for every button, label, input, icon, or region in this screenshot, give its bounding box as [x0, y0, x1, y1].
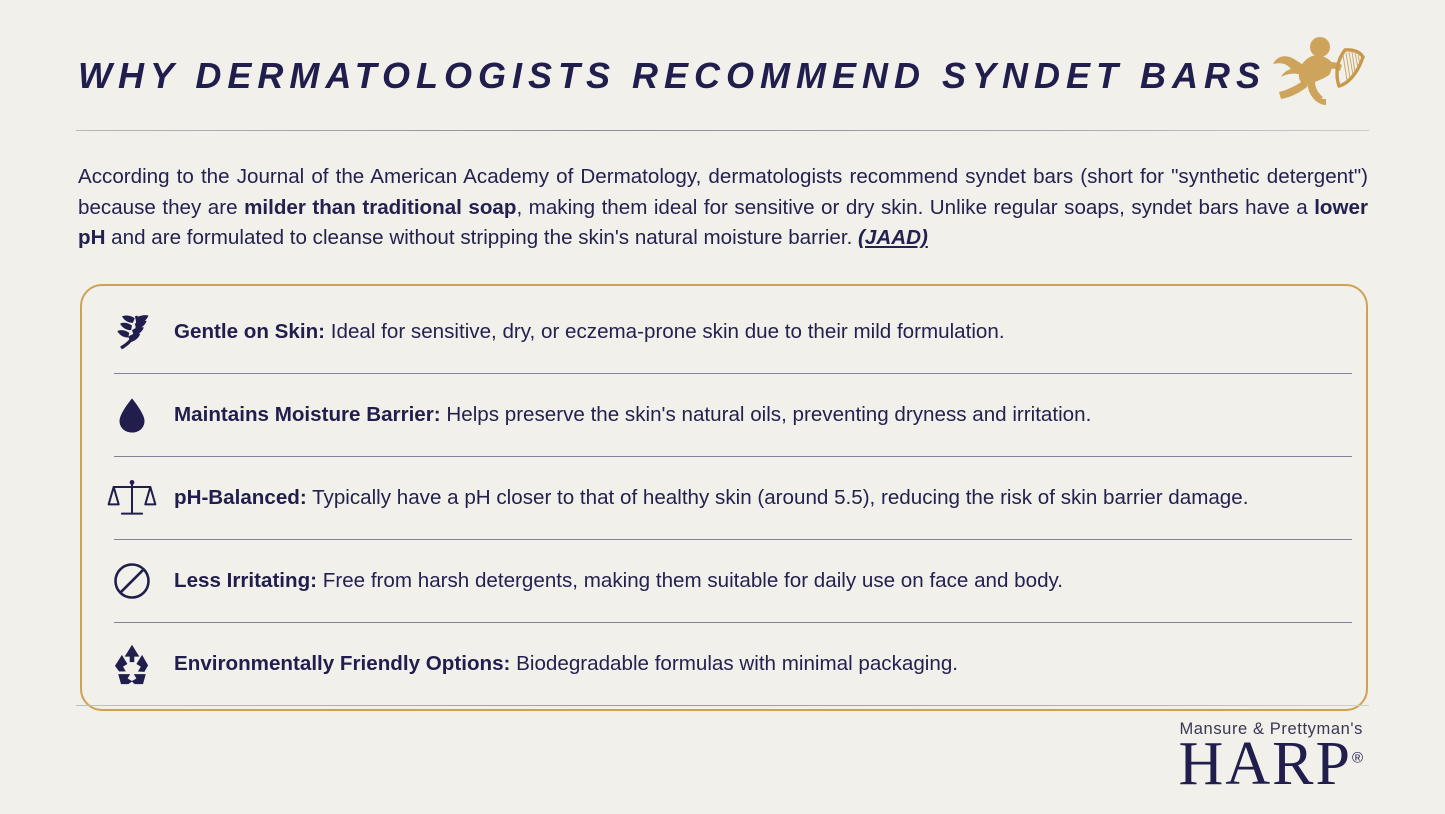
jaad-citation-link[interactable]: (JAAD)	[858, 226, 928, 249]
benefit-title: Gentle on Skin:	[174, 320, 325, 343]
benefit-row: pH-Balanced: Typically have a pH closer …	[98, 456, 1336, 539]
registered-trademark-symbol: ®	[1352, 749, 1363, 766]
benefit-row: Maintains Moisture Barrier: Helps preser…	[98, 373, 1336, 456]
intro-text-part-3: and are formulated to cleanse without st…	[105, 226, 858, 249]
brand-logo: Mansure & Prettyman's HARP®	[76, 720, 1369, 796]
brand-wordmark: HARP®	[1179, 733, 1363, 796]
intro-bold-milder: milder than traditional soap	[244, 196, 516, 219]
benefit-row: Environmentally Friendly Options: Biodeg…	[98, 622, 1336, 705]
header: WHY DERMATOLOGISTS RECOMMEND SYNDET BARS	[76, 0, 1369, 132]
benefit-description: Ideal for sensitive, dry, or eczema-pron…	[325, 320, 1005, 343]
footer-divider	[76, 705, 1369, 706]
benefit-row: Gentle on Skin: Ideal for sensitive, dry…	[98, 290, 1336, 373]
benefit-description: Free from harsh detergents, making them …	[317, 569, 1063, 592]
cherub-with-harp-icon	[1271, 30, 1367, 112]
page-title: WHY DERMATOLOGISTS RECOMMEND SYNDET BARS	[78, 58, 1266, 94]
benefit-description: Typically have a pH closer to that of he…	[307, 486, 1249, 509]
intro-paragraph: According to the Journal of the American…	[76, 132, 1369, 254]
prohibition-circle-slash-icon	[104, 557, 160, 605]
infographic-page: WHY DERMATOLOGISTS RECOMMEND SYNDET BARS	[0, 0, 1445, 814]
benefit-text: Maintains Moisture Barrier: Helps preser…	[174, 400, 1091, 428]
balance-scale-icon	[104, 474, 160, 522]
leaf-branch-icon	[104, 308, 160, 356]
recycle-arrows-icon	[104, 640, 160, 688]
benefit-title: Less Irritating:	[174, 569, 317, 592]
benefit-text: pH-Balanced: Typically have a pH closer …	[174, 483, 1248, 511]
benefit-text: Gentle on Skin: Ideal for sensitive, dry…	[174, 317, 1005, 345]
water-droplet-icon	[104, 391, 160, 439]
benefit-title: Maintains Moisture Barrier:	[174, 403, 441, 426]
footer: Mansure & Prettyman's HARP®	[76, 705, 1369, 796]
benefit-title: Environmentally Friendly Options:	[174, 652, 510, 675]
benefit-text: Environmentally Friendly Options: Biodeg…	[174, 649, 958, 677]
benefit-description: Biodegradable formulas with minimal pack…	[510, 652, 958, 675]
header-divider	[76, 130, 1369, 131]
benefit-text: Less Irritating: Free from harsh deterge…	[174, 566, 1063, 594]
intro-text-part-2: , making them ideal for sensitive or dry…	[516, 196, 1314, 219]
benefit-title: pH-Balanced:	[174, 486, 307, 509]
benefit-row: Less Irritating: Free from harsh deterge…	[98, 539, 1336, 622]
benefits-card: Gentle on Skin: Ideal for sensitive, dry…	[80, 284, 1368, 711]
brand-wordmark-text: HARP	[1179, 730, 1352, 798]
benefit-description: Helps preserve the skin's natural oils, …	[441, 403, 1092, 426]
brand-tagline: Mansure & Prettyman's	[76, 720, 1363, 739]
